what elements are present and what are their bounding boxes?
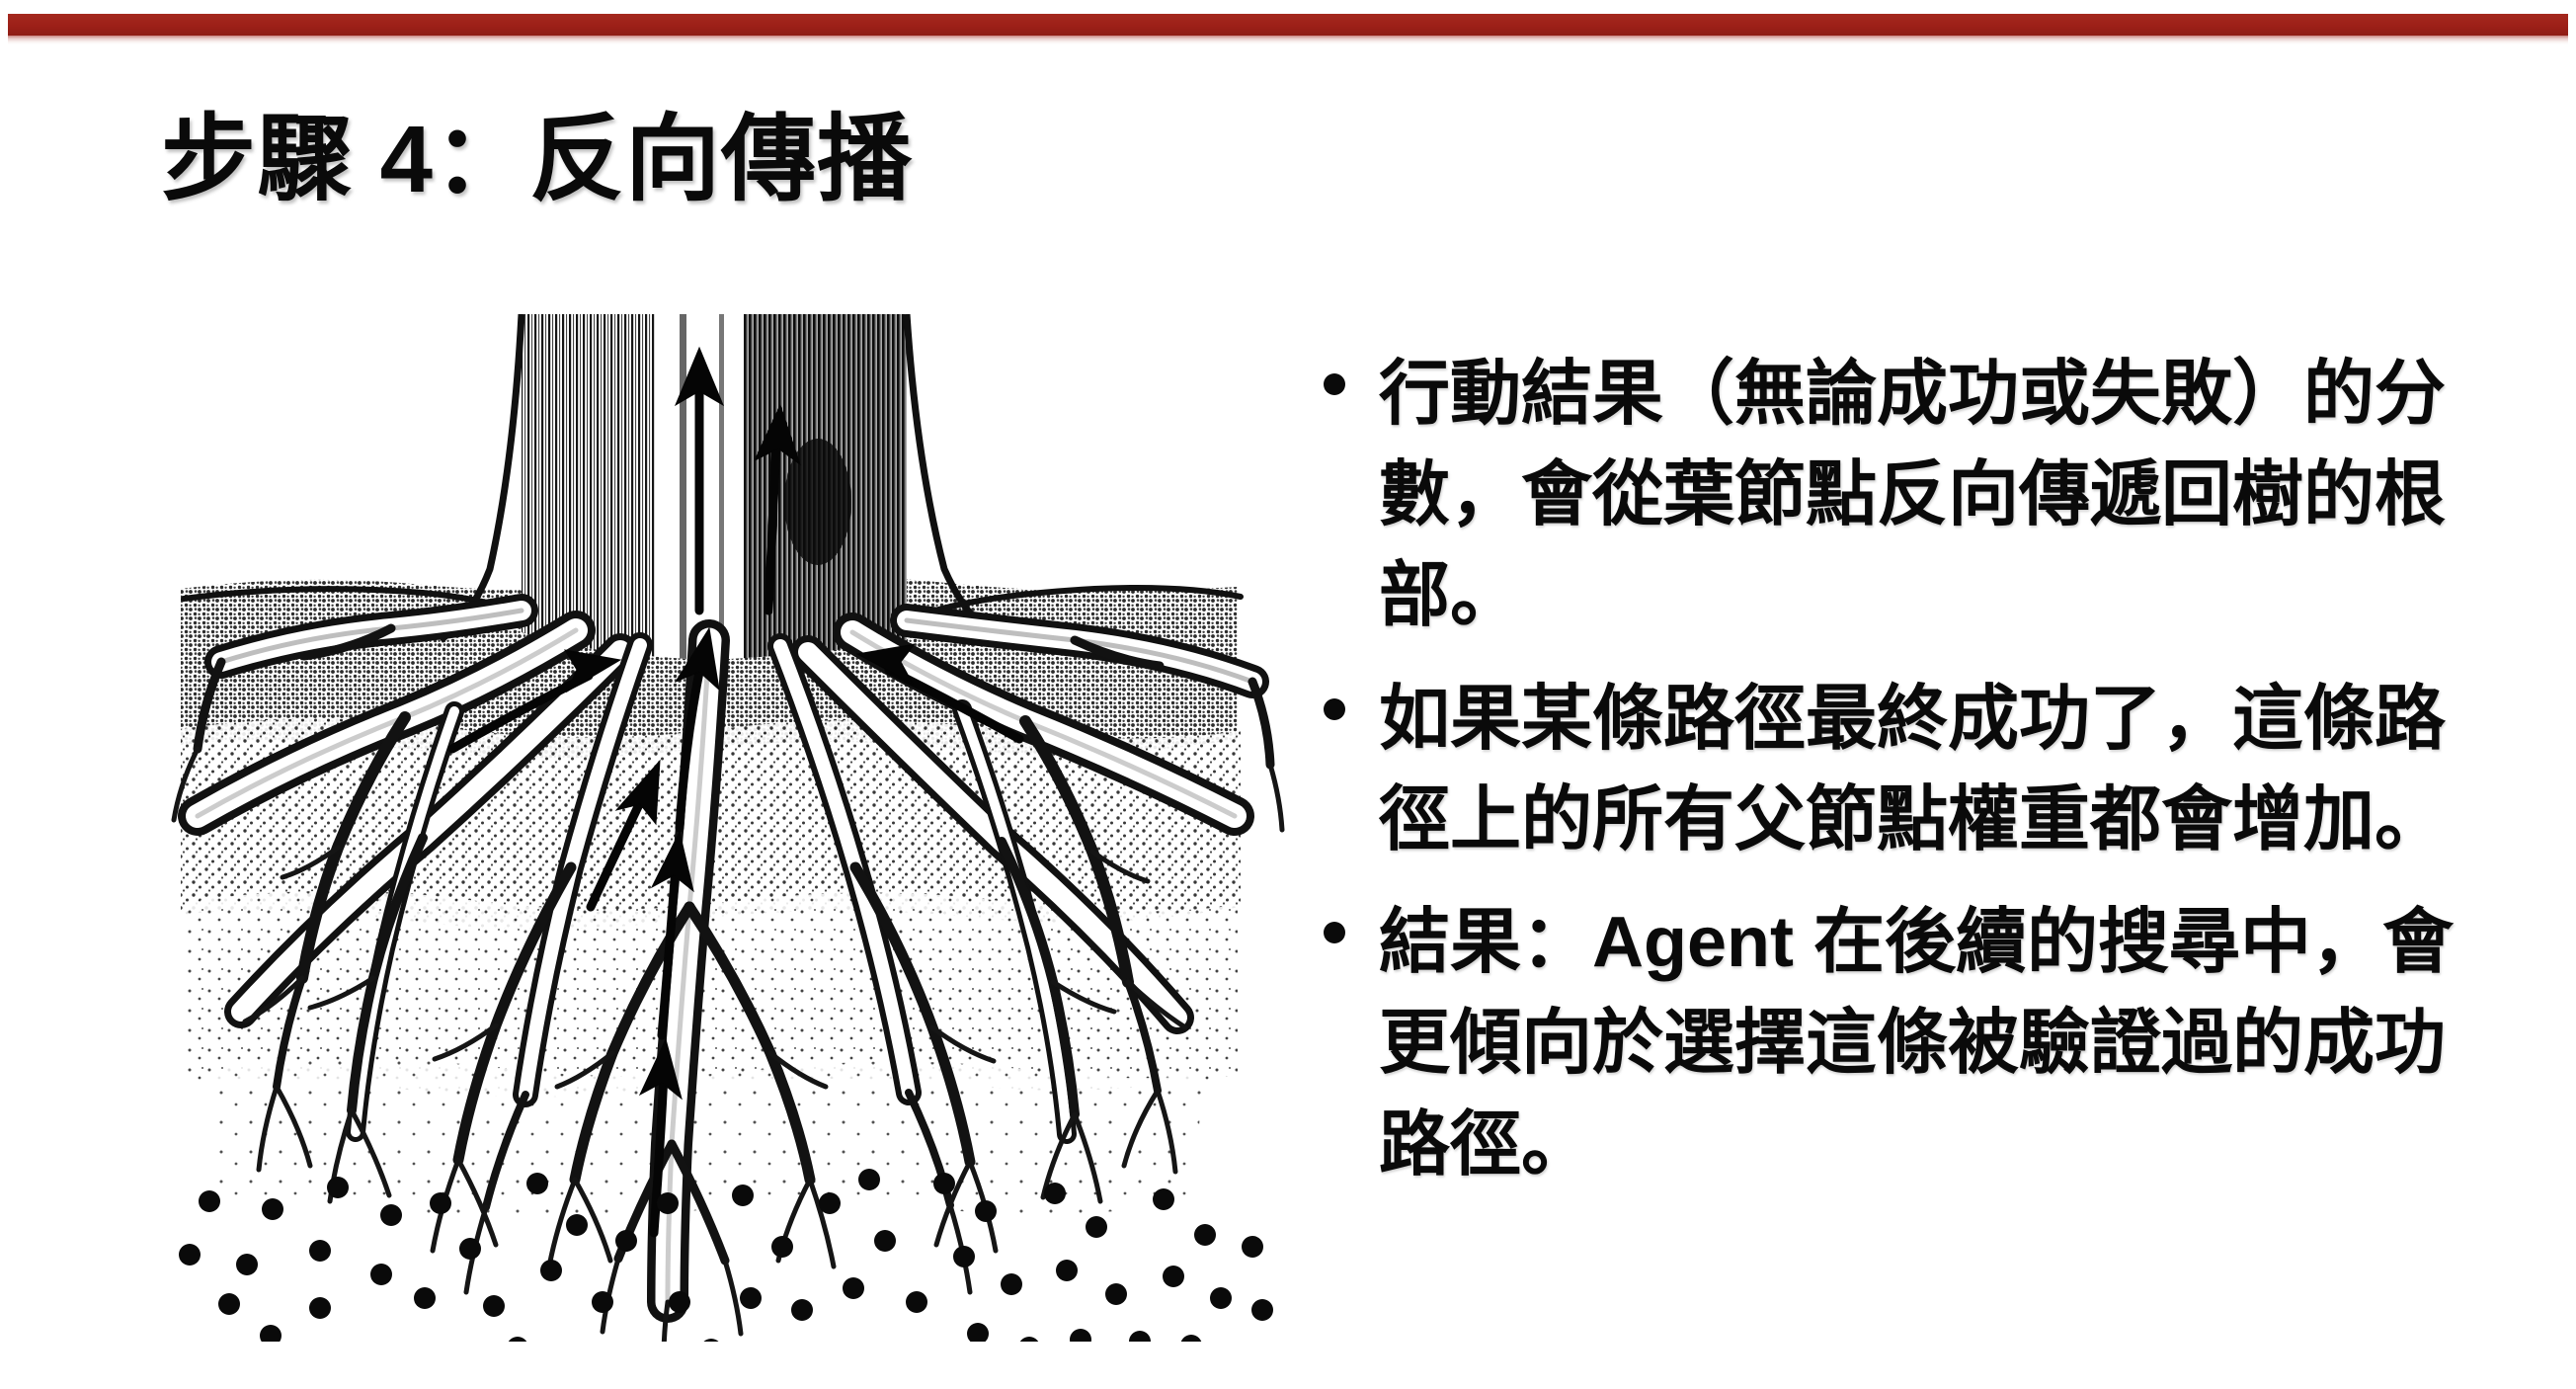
bullet-text: 如果某條路徑最終成功了，這條路徑上的所有父節點權重都會增加。: [1379, 669, 2509, 870]
bullet-marker: [1324, 892, 1379, 948]
list-item: 結果：Agent 在後續的搜尋中，會更傾向於選擇這條被驗證過的成功路徑。: [1324, 892, 2509, 1195]
bullet-marker: [1324, 669, 1379, 725]
root-system-svg: [126, 314, 1292, 1342]
bullet-dot-icon: [1324, 373, 1345, 395]
accent-bar: [8, 14, 2568, 36]
page-title: 步驟 4：反向傳播: [161, 111, 913, 210]
accent-bar-shadow: [8, 36, 2568, 44]
top-accent-bar-region: [0, 0, 2576, 59]
bullet-list: 行動結果（無論成功或失敗）的分數，會從葉節點反向傳遞回樹的根部。 如果某條路徑最…: [1324, 344, 2509, 1217]
list-item: 行動結果（無論成功或失敗）的分數，會從葉節點反向傳遞回樹的根部。: [1324, 344, 2509, 647]
tree-root-illustration: [126, 314, 1292, 1342]
bullet-text: 結果：Agent 在後續的搜尋中，會更傾向於選擇這條被驗證過的成功路徑。: [1379, 892, 2509, 1195]
bullet-marker: [1324, 344, 1379, 400]
bullet-dot-icon: [1324, 698, 1345, 720]
list-item: 如果某條路徑最終成功了，這條路徑上的所有父節點權重都會增加。: [1324, 669, 2509, 870]
bullet-dot-icon: [1324, 922, 1345, 943]
bullet-text: 行動結果（無論成功或失敗）的分數，會從葉節點反向傳遞回樹的根部。: [1379, 344, 2509, 647]
